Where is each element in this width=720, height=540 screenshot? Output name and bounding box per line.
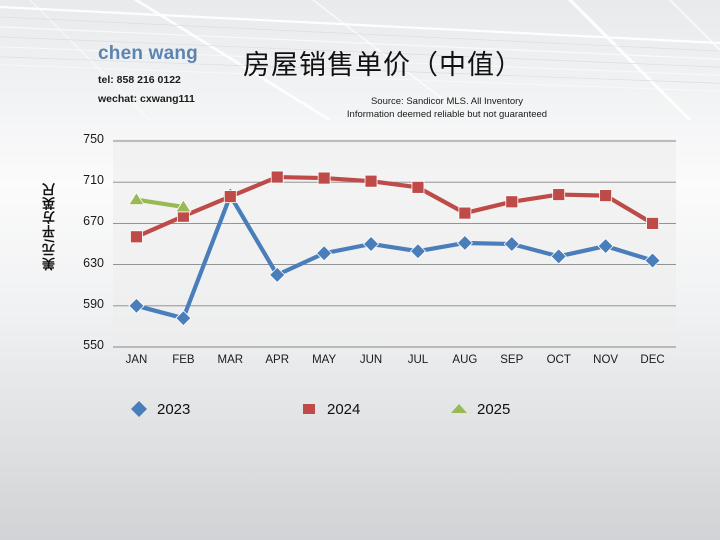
- legend-label: 2023: [157, 401, 190, 418]
- legend-item-2023[interactable]: 2023: [130, 396, 190, 422]
- data-point-square: [365, 175, 377, 187]
- legend-item-2024[interactable]: 2024: [300, 396, 360, 422]
- chart-legend: 202320242025: [130, 396, 550, 422]
- data-point-square: [130, 231, 142, 243]
- data-point-square: [412, 181, 424, 193]
- data-point-square: [647, 217, 659, 229]
- legend-marker-diamond-icon: [130, 400, 148, 418]
- data-point-square: [506, 196, 518, 208]
- plot-svg: [0, 0, 720, 540]
- legend-marker-triangle-icon: [450, 400, 468, 418]
- legend-label: 2024: [327, 401, 360, 418]
- data-point-square: [553, 189, 565, 201]
- data-point-square: [318, 172, 330, 184]
- data-point-square: [459, 207, 471, 219]
- legend-marker-square-icon: [300, 400, 318, 418]
- legend-item-2025[interactable]: 2025: [450, 396, 510, 422]
- data-point-square: [600, 190, 612, 202]
- slide-canvas: chen wang tel: 858 216 0122 wechat: cxwa…: [0, 0, 720, 540]
- legend-label: 2025: [477, 401, 510, 418]
- plot-background: [113, 139, 676, 347]
- data-point-square: [224, 191, 236, 203]
- data-point-square: [271, 171, 283, 183]
- chart-plot: 美元/平方英尺 750710670630590550 JANFEBMARAPRM…: [0, 0, 720, 540]
